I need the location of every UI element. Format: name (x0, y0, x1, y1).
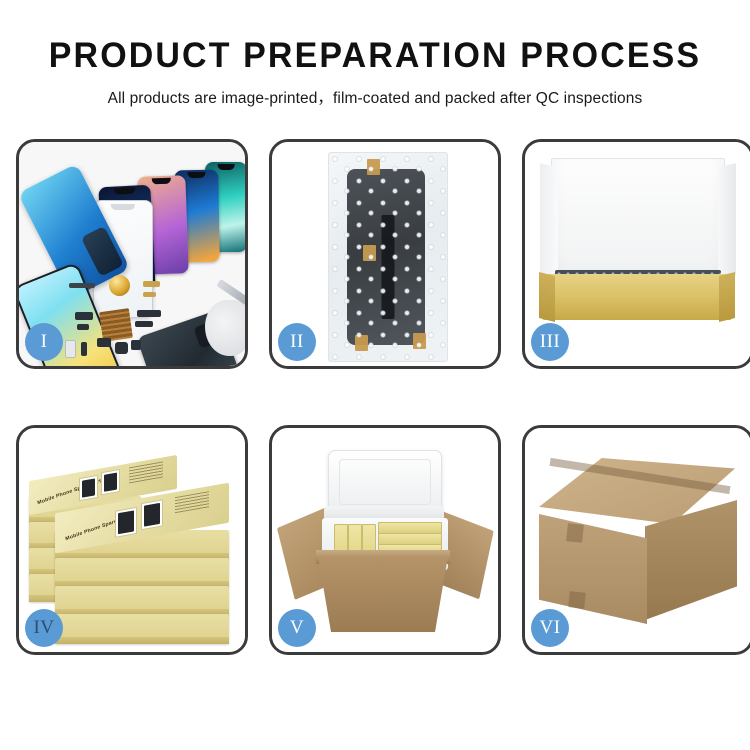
part-flex-cable-icon (137, 310, 161, 317)
box-window-icon (115, 507, 137, 538)
bubble-texture (329, 153, 447, 361)
panel-1-badge: I (25, 323, 63, 361)
box-window-icon (141, 499, 163, 530)
yellow-box-tray (541, 274, 733, 320)
panel-3-badge: III (531, 323, 569, 361)
part-camera-icon (97, 338, 111, 347)
process-grid: I II III (16, 139, 734, 655)
process-panel-6[interactable]: VI (522, 425, 750, 655)
panel-6-badge: VI (531, 609, 569, 647)
process-panel-2[interactable]: II (269, 139, 501, 369)
page-header: PRODUCT PREPARATION PROCESS All products… (0, 0, 750, 108)
part-gold-flex-icon (143, 281, 160, 287)
part-pin-icon (81, 342, 87, 356)
box-spec-lines (175, 491, 209, 515)
carton-tab-lower-icon (568, 591, 586, 609)
bubble-wrap-bag (328, 152, 448, 362)
part-small-chip-icon (131, 340, 141, 350)
carton-tab-upper-icon (566, 523, 584, 543)
box-spec-lines (129, 461, 163, 485)
part-connector-icon (75, 312, 93, 320)
page-subtitle: All products are image-printed，film-coat… (0, 86, 750, 108)
panel-6-image: VI (525, 428, 750, 652)
retail-box (55, 614, 229, 644)
box-window-icon (79, 475, 98, 501)
retail-box-stack: Mobile Phone Spare Parts Mobile Phone Sp… (25, 452, 243, 642)
process-panel-5[interactable]: V (269, 425, 501, 655)
process-panel-1[interactable]: I (16, 139, 248, 369)
page-title: PRODUCT PREPARATION PROCESS (11, 38, 739, 73)
chip-array-icon (99, 308, 133, 342)
foam-box-lid (328, 450, 442, 514)
carton-body (318, 556, 448, 632)
process-panel-4[interactable]: Mobile Phone Spare Parts Mobile Phone Sp… (16, 425, 248, 655)
part-bar-icon (69, 283, 95, 288)
retail-box (55, 558, 229, 588)
panel-2-badge: II (278, 323, 316, 361)
panel-5-badge: V (278, 609, 316, 647)
panel-1-image: I (19, 142, 245, 366)
part-flex-cable-2-icon (135, 321, 153, 327)
panel-4-badge: IV (25, 609, 63, 647)
part-module-icon (115, 342, 128, 354)
speaker-module-icon (109, 275, 130, 296)
white-box-lid (551, 158, 725, 286)
part-gold-flex-2-icon (143, 292, 156, 297)
process-panel-3[interactable]: III (522, 139, 750, 369)
panel-4-image: Mobile Phone Spare Parts Mobile Phone Sp… (19, 428, 245, 652)
part-sim-tray-icon (65, 340, 76, 358)
retail-box (55, 586, 229, 616)
part-connector-2-icon (77, 324, 89, 330)
box-window-icon (101, 469, 120, 495)
panel-5-image: V (272, 428, 498, 652)
panel-3-image: III (525, 142, 750, 366)
panel-2-image: II (272, 142, 498, 366)
